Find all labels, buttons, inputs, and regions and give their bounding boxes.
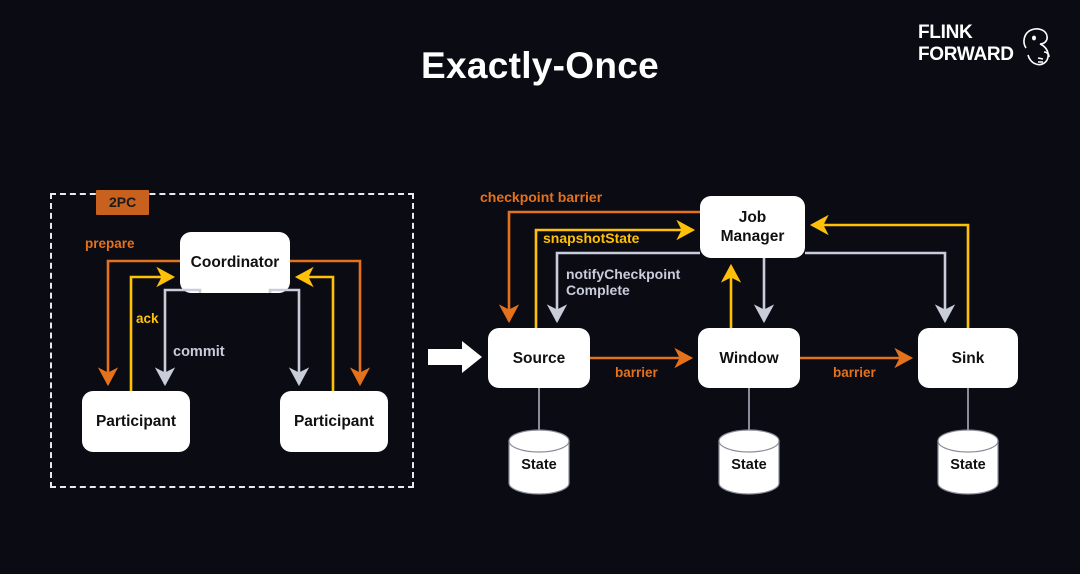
edge-label-notify-checkpoint-complete: notifyCheckpoint Complete <box>566 266 680 298</box>
edge-label-notify-line-2: Complete <box>566 282 680 298</box>
slide-canvas: Exactly-Once FLINK FORWARD 2PC Coordinat… <box>0 0 1080 574</box>
node-job-manager-label-1: Job <box>739 208 767 227</box>
edge-notify-complete-sink <box>805 253 945 321</box>
node-participant-right-label: Participant <box>294 413 374 430</box>
edge-snapshot-state-sink <box>812 225 968 328</box>
node-participant-left[interactable]: Participant <box>82 391 190 452</box>
edge-label-checkpoint-barrier: checkpoint barrier <box>480 189 602 205</box>
badge-2pc: 2PC <box>96 190 149 215</box>
edge-label-commit: commit <box>173 344 225 360</box>
logo-line-2: FORWARD <box>918 44 1014 66</box>
node-window[interactable]: Window <box>698 328 800 388</box>
state-store-source-label: State <box>503 457 575 473</box>
node-source-label: Source <box>513 350 566 367</box>
flink-forward-logo: FLINK FORWARD <box>918 16 1058 76</box>
node-coordinator-label: Coordinator <box>191 254 280 271</box>
state-store-window[interactable]: State <box>713 427 785 497</box>
logo-line-1: FLINK <box>918 22 1014 44</box>
node-sink-label: Sink <box>952 350 985 367</box>
node-window-label: Window <box>719 350 778 367</box>
node-source[interactable]: Source <box>488 328 590 388</box>
node-participant-left-label: Participant <box>96 413 176 430</box>
edge-label-barrier-window-sink: barrier <box>833 365 876 381</box>
state-store-sink[interactable]: State <box>932 427 1004 497</box>
state-store-window-label: State <box>713 457 785 473</box>
node-job-manager[interactable]: Job Manager <box>700 196 805 258</box>
state-store-source[interactable]: State <box>503 427 575 497</box>
edge-label-barrier-source-window: barrier <box>615 365 658 381</box>
node-coordinator[interactable]: Coordinator <box>180 232 290 293</box>
node-sink[interactable]: Sink <box>918 328 1018 388</box>
node-job-manager-label-2: Manager <box>721 227 785 246</box>
state-store-sink-label: State <box>932 457 1004 473</box>
input-stream-arrow <box>428 341 482 373</box>
node-participant-right[interactable]: Participant <box>280 391 388 452</box>
edge-label-snapshot-state: snapshotState <box>543 230 639 246</box>
edge-label-ack: ack <box>136 311 159 327</box>
edge-label-notify-line-1: notifyCheckpoint <box>566 266 680 282</box>
edge-label-prepare: prepare <box>85 236 135 252</box>
